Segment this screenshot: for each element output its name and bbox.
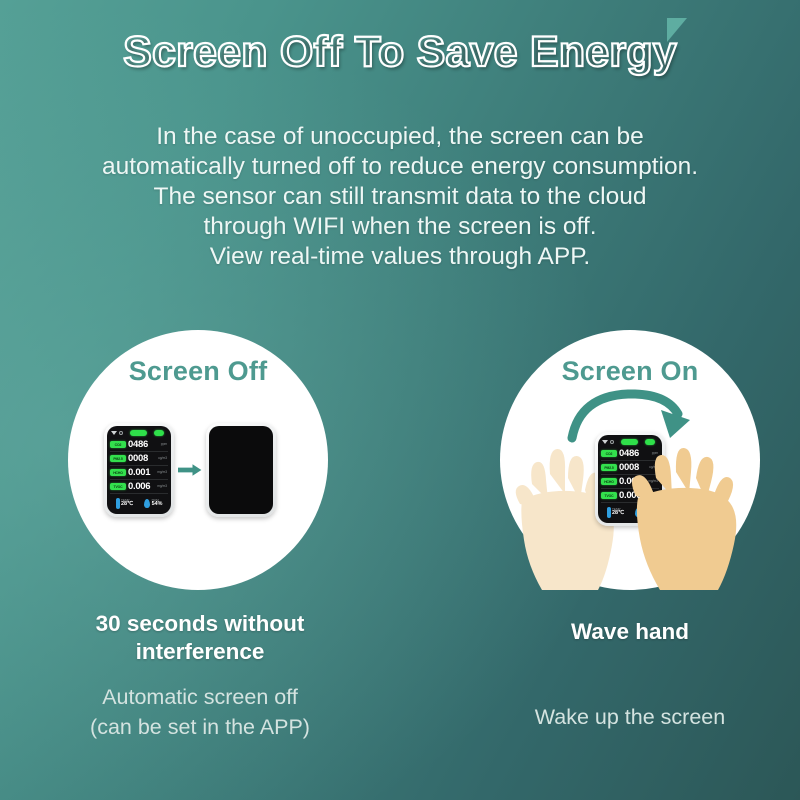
reading-badge: PM2.5	[110, 455, 126, 462]
reading-unit: mg/m3	[157, 471, 168, 474]
humidity-drop-icon	[144, 499, 150, 508]
device-reading-row: TVOC 0.006 mg/m3	[110, 481, 168, 494]
caption-line: Wake up the screen	[460, 702, 800, 732]
caption-right-strong: Wave hand	[470, 618, 790, 646]
panel-screen-on: Screen On	[500, 330, 760, 590]
panel-heading-screen-on: Screen On	[500, 356, 760, 387]
environment-value: 28℃	[121, 502, 133, 507]
thermometer-icon	[607, 507, 611, 518]
poster-canvas: Screen Off To Save Energy In the case of…	[0, 0, 800, 800]
caption-line: Automatic screen off	[30, 682, 370, 712]
environment-value: 54%	[152, 502, 163, 507]
environment-temperature: TEMP 28℃	[116, 498, 134, 509]
caption-right-soft: Wake up the screen	[460, 702, 800, 732]
device-environment-row: TEMP 28℃ HUM 54%	[110, 494, 168, 512]
reading-value: 0486	[128, 440, 148, 450]
reading-value: 0.001	[128, 468, 150, 478]
device-statusbar	[110, 429, 168, 437]
environment-humidity: HUM 54%	[144, 499, 162, 508]
panel-screen-off: Screen Off CO2 0486 ppm PM2.5	[68, 330, 328, 590]
intro-line: The sensor can still transmit data to th…	[40, 182, 760, 212]
wifi-icon	[111, 431, 117, 435]
reading-badge: CO2	[601, 450, 617, 457]
device-readings-list: CO2 0486 ppm PM2.5 0008 ug/m3 HCHO 0.001…	[110, 439, 168, 494]
reading-value: 0.006	[128, 482, 150, 492]
reading-badge: PM2.5	[601, 464, 617, 471]
hand-right-icon	[620, 434, 748, 590]
device-screen-blank	[209, 426, 273, 514]
caption-line: (can be set in the APP)	[30, 712, 370, 742]
caption-left-strong: 30 seconds without interference	[40, 610, 360, 666]
device-reading-row: CO2 0486 ppm	[110, 439, 168, 452]
intro-line: through WIFI when the screen is off.	[40, 212, 760, 242]
panel-heading-screen-off: Screen Off	[68, 356, 328, 387]
caption-left-soft: Automatic screen off (can be set in the …	[30, 682, 370, 742]
clock-icon	[119, 431, 123, 435]
device-monitor-on[interactable]: CO2 0486 ppm PM2.5 0008 ug/m3 HCHO 0.001…	[104, 423, 174, 517]
device-screen-on: CO2 0486 ppm PM2.5 0008 ug/m3 HCHO 0.001…	[107, 426, 171, 514]
status-pill-wide	[130, 430, 147, 436]
reading-badge: CO2	[110, 441, 126, 448]
device-reading-row: PM2.5 0008 ug/m3	[110, 453, 168, 466]
reading-unit: mg/m3	[157, 485, 168, 488]
reading-value: 0008	[128, 454, 148, 464]
reading-badge: TVOC	[110, 483, 126, 490]
thermometer-icon	[116, 498, 120, 509]
device-monitor-off[interactable]	[206, 423, 276, 517]
page-title: Screen Off To Save Energy	[0, 28, 800, 77]
reading-unit: ppm	[161, 443, 168, 446]
arrow-right-icon	[178, 463, 202, 477]
intro-line: View real-time values through APP.	[40, 242, 760, 272]
battery-pill	[154, 430, 164, 436]
reading-badge: TVOC	[601, 492, 617, 499]
reading-unit: ug/m3	[158, 457, 168, 460]
reading-badge: HCHO	[601, 478, 617, 485]
intro-line: In the case of unoccupied, the screen ca…	[40, 122, 760, 152]
intro-paragraph: In the case of unoccupied, the screen ca…	[40, 122, 760, 272]
intro-line: automatically turned off to reduce energ…	[40, 152, 760, 182]
device-reading-row: HCHO 0.001 mg/m3	[110, 467, 168, 480]
reading-badge: HCHO	[110, 469, 126, 476]
